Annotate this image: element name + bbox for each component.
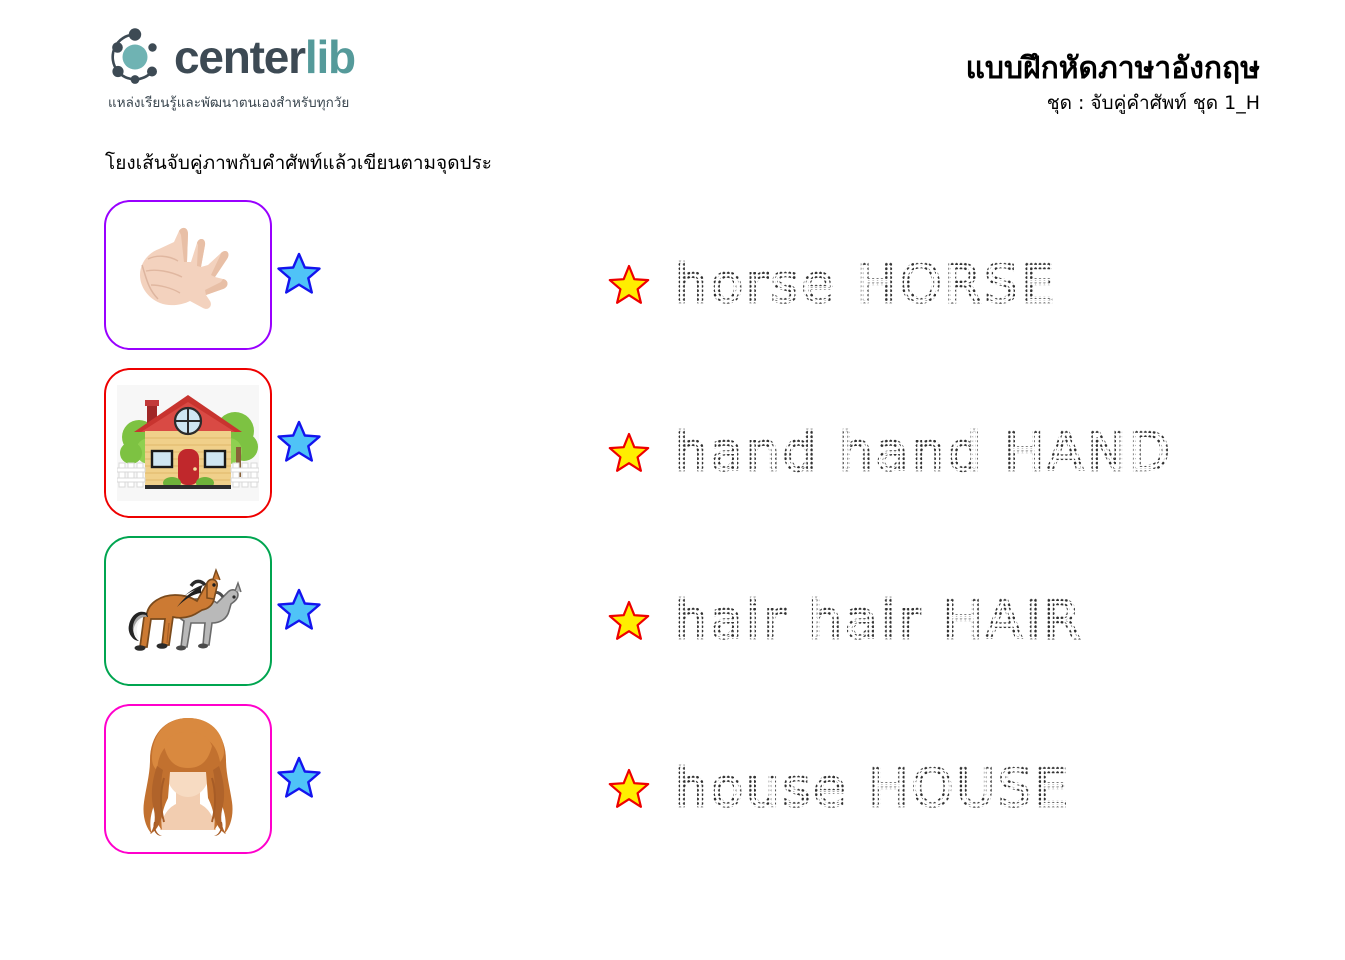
word-column: horse HORSE hand hand HAND hair hair HAI… xyxy=(608,200,1308,872)
page-subtitle: ชุด : จับคู่คำศัพท์ ชุด 1_H xyxy=(966,92,1260,115)
brand-name-lib: lib xyxy=(305,31,355,83)
picture-row-hand xyxy=(104,200,334,368)
brand-tagline: แหล่งเรียนรู้และพัฒนาตนเองสำหรับทุกวัย xyxy=(108,91,484,113)
picture-column xyxy=(104,200,334,872)
title-block: แบบฝึกหัดภาษาอังกฤษ ชุด : จับคู่คำศัพท์ … xyxy=(966,52,1260,114)
trace-word-hair: hair hair HAIR xyxy=(674,590,1083,651)
blue-star-icon[interactable] xyxy=(276,418,322,464)
picture-card-hair[interactable] xyxy=(104,704,272,854)
hair-illustration-icon xyxy=(130,712,246,846)
worksheet-header: centerlib แหล่งเรียนรู้และพัฒนาตนเองสำหร… xyxy=(0,0,1345,140)
yellow-star-icon[interactable] xyxy=(608,599,650,641)
blue-star-icon[interactable] xyxy=(276,586,322,632)
blue-star-icon[interactable] xyxy=(276,754,322,800)
picture-row-hair xyxy=(104,704,334,872)
picture-card-house[interactable] xyxy=(104,368,272,518)
yellow-star-icon[interactable] xyxy=(608,431,650,473)
picture-row-house xyxy=(104,368,334,536)
brand-block: centerlib แหล่งเรียนรู้และพัฒนาตนเองสำหร… xyxy=(104,26,484,113)
word-row-hand: hand hand HAND xyxy=(608,368,1308,536)
brand-wordmark: centerlib xyxy=(174,34,355,80)
word-row-horse: horse HORSE xyxy=(608,200,1308,368)
trace-word-hand: hand hand HAND xyxy=(674,422,1173,483)
blue-star-icon[interactable] xyxy=(276,250,322,296)
page-title: แบบฝึกหัดภาษาอังกฤษ xyxy=(966,52,1260,87)
word-row-house: house HOUSE xyxy=(608,704,1308,872)
yellow-star-icon[interactable] xyxy=(608,263,650,305)
brand-row: centerlib xyxy=(104,26,484,88)
centerlib-orbit-logo-icon xyxy=(104,26,166,88)
trace-word-house: house HOUSE xyxy=(674,758,1071,819)
house-illustration-icon xyxy=(117,385,259,501)
instruction-text: โยงเส้นจับคู่ภาพกับคำศัพท์แล้วเขียนตามจุ… xyxy=(105,148,492,178)
trace-word-horse: horse HORSE xyxy=(674,254,1057,315)
picture-card-horse[interactable] xyxy=(104,536,272,686)
hand-photo-icon xyxy=(118,215,258,335)
yellow-star-icon[interactable] xyxy=(608,767,650,809)
picture-card-hand[interactable] xyxy=(104,200,272,350)
brand-name-center: center xyxy=(174,31,305,83)
picture-row-horse xyxy=(104,536,334,704)
horses-illustration-icon xyxy=(117,553,259,669)
word-row-hair: hair hair HAIR xyxy=(608,536,1308,704)
